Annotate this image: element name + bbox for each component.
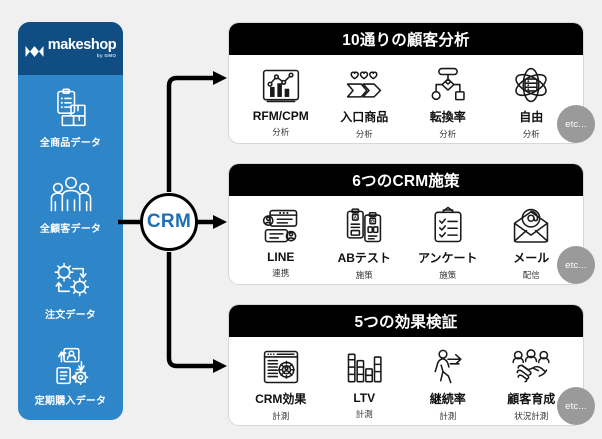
sidebar-item-label: 全顧客データ <box>40 220 101 235</box>
panel-items: CRM効果 計測 LTV <box>229 337 583 426</box>
panel-item-title: 継続率 <box>430 390 466 407</box>
panel-item-rfm-cpm[interactable]: RFM/CPM 分析 <box>239 62 323 138</box>
svg-text:A: A <box>354 215 358 221</box>
panel-item-title: RFM/CPM <box>253 109 309 123</box>
etc-badge[interactable]: etc... <box>557 387 595 425</box>
panel-customer-analysis: 10通りの顧客分析 RFM/CPM 分析 <box>228 22 584 144</box>
data-sources-sidebar: makeshop by GMO <box>18 22 123 420</box>
panel-item-ltv[interactable]: LTV 計測 <box>323 344 407 420</box>
panel-title: 10通りの顧客分析 <box>342 28 470 50</box>
bar-chart-icon <box>343 348 385 388</box>
panel-item-title: ABテスト <box>338 249 391 266</box>
walking-arrow-icon <box>427 347 469 387</box>
panel-item-conversion-rate[interactable]: 転換率 分析 <box>406 61 490 140</box>
panel-item-title: 自由 <box>519 108 543 125</box>
panel-item-subtitle: 分析 <box>272 126 289 138</box>
panel-item-title: LINE <box>267 250 294 264</box>
clipboard-check-icon <box>427 206 469 246</box>
panel-item-subtitle: 計測 <box>439 410 456 422</box>
people-group-icon <box>50 174 92 214</box>
sidebar-item-subscriptions[interactable]: 定期購入データ <box>18 334 123 420</box>
crm-hub-label: CRM <box>147 211 191 233</box>
panel-item-subtitle: 連携 <box>272 267 289 279</box>
panel-item-subtitle: 状況計測 <box>514 410 548 422</box>
panel-item-title: 転換率 <box>430 108 466 125</box>
panel-header: 6つのCRM施策 <box>229 164 583 196</box>
etc-badge-label: etc... <box>565 401 587 412</box>
panel-item-title: CRM効果 <box>255 390 306 407</box>
panel-item-title: LTV <box>353 391 375 405</box>
sidebar-item-customers[interactable]: 全顧客データ <box>18 161 123 247</box>
panel-header: 5つの効果検証 <box>229 305 583 337</box>
panel-item-retention-rate[interactable]: 継続率 計測 <box>406 343 490 422</box>
makeshop-logo-mark-icon <box>25 44 44 59</box>
panel-item-line[interactable]: LINE 連携 <box>239 203 323 279</box>
svg-text:B: B <box>371 218 375 224</box>
panel-item-subtitle: 分析 <box>356 128 373 140</box>
brand-name: makeshop <box>48 38 117 53</box>
panel-items: LINE 連携 A B <box>229 196 583 285</box>
panel-header: 10通りの顧客分析 <box>229 23 583 55</box>
panel-title: 5つの効果検証 <box>354 310 457 332</box>
panel-title: 6つのCRM施策 <box>352 169 460 191</box>
clipboard-boxes-icon <box>50 88 92 128</box>
sidebar-item-label: 全商品データ <box>40 134 101 149</box>
etc-badge-label: etc... <box>565 119 587 130</box>
panel-item-subtitle: 分析 <box>439 128 456 140</box>
gears-cycle-icon <box>50 260 92 300</box>
panel-item-survey[interactable]: アンケート 施策 <box>406 202 490 281</box>
panel-crm-measures: 6つのCRM施策 <box>228 163 584 285</box>
panel-item-crm-effect[interactable]: CRM効果 計測 <box>239 343 323 422</box>
subscription-document-icon <box>50 346 92 386</box>
panel-item-title: 入口商品 <box>340 108 388 125</box>
panel-item-ab-test[interactable]: A B ABテスト 施策 <box>323 202 407 281</box>
panel-item-subtitle: 計測 <box>356 408 373 420</box>
panel-item-subtitle: 施策 <box>356 269 373 281</box>
ab-test-docs-icon: A B <box>343 206 385 246</box>
handshake-people-icon <box>510 347 552 387</box>
panel-effect-verification: 5つの効果検証 <box>228 304 584 426</box>
panel-item-subtitle: 分析 <box>523 128 540 140</box>
panel-item-subtitle: 配信 <box>523 269 540 281</box>
panel-item-entry-product[interactable]: 入口商品 分析 <box>323 61 407 140</box>
atom-database-icon <box>510 65 552 105</box>
panel-item-title: 顧客育成 <box>507 390 555 407</box>
email-at-icon <box>510 206 552 246</box>
panel-items: RFM/CPM 分析 入口商品 分析 <box>229 55 583 144</box>
brand-logo: makeshop by GMO <box>18 22 123 75</box>
diagram-canvas: makeshop by GMO <box>0 0 602 439</box>
sidebar-item-orders[interactable]: 注文データ <box>18 248 123 334</box>
brand-sub: by GMO <box>97 54 116 59</box>
crm-hub-node[interactable]: CRM <box>140 193 198 251</box>
sidebar-item-label: 定期購入データ <box>35 392 106 407</box>
sidebar-item-label: 注文データ <box>45 306 96 321</box>
etc-badge[interactable]: etc... <box>557 105 595 143</box>
sidebar-item-products[interactable]: 全商品データ <box>18 75 123 161</box>
etc-badge[interactable]: etc... <box>557 246 595 284</box>
chat-window-icon <box>260 207 302 247</box>
sidebar-item-list: 全商品データ 全顧客データ <box>18 75 123 420</box>
bar-line-chart-icon <box>260 66 302 106</box>
browser-gear-icon <box>260 347 302 387</box>
funnel-hearts-icon <box>343 65 385 105</box>
flowchart-icon <box>427 65 469 105</box>
panel-item-title: アンケート <box>418 249 478 266</box>
panel-item-title: メール <box>513 249 549 266</box>
etc-badge-label: etc... <box>565 260 587 271</box>
panel-item-subtitle: 施策 <box>439 269 456 281</box>
panel-item-subtitle: 計測 <box>272 410 289 422</box>
